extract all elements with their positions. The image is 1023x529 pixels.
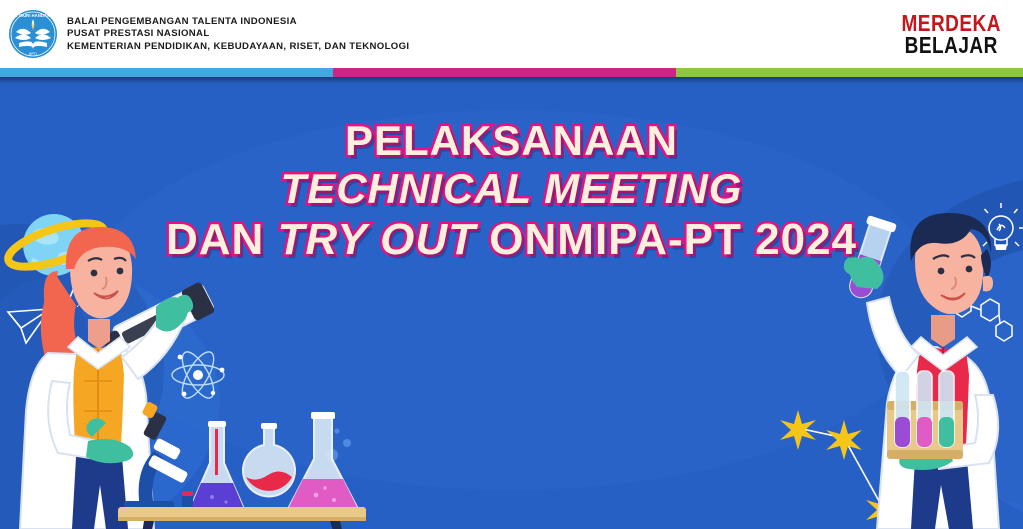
stripe-segment-magenta bbox=[333, 68, 676, 77]
merdeka-belajar-logo: MERDEKA BELAJAR bbox=[901, 14, 1001, 54]
event-banner: x+xy bbox=[0, 0, 1023, 529]
institution-line-2: PUSAT PRESTASI NASIONAL bbox=[67, 28, 409, 41]
institution-line-3: KEMENTERIAN PENDIDIKAN, KEBUDAYAAN, RISE… bbox=[67, 41, 409, 54]
stripe-segment-green bbox=[676, 68, 1023, 77]
lab-bench-with-glassware bbox=[118, 399, 366, 529]
merdeka-label: MERDEKA bbox=[901, 14, 1001, 36]
banner-header: TUT WURI HANDAYANI BPTI BALAI PENGEMBANG… bbox=[0, 0, 1023, 68]
tut-wuri-handayani-logo: TUT WURI HANDAYANI BPTI bbox=[8, 9, 58, 59]
institution-text-block: BALAI PENGEMBANGAN TALENTA INDONESIA PUS… bbox=[67, 15, 409, 54]
flask-red bbox=[243, 423, 295, 497]
institution-brand: TUT WURI HANDAYANI BPTI BALAI PENGEMBANG… bbox=[8, 9, 409, 59]
color-stripe bbox=[0, 68, 1023, 77]
stripe-segment-blue bbox=[0, 68, 333, 77]
institution-line-1: BALAI PENGEMBANGAN TALENTA INDONESIA bbox=[67, 16, 409, 29]
flask-pink bbox=[288, 412, 358, 509]
belajar-label: BELAJAR bbox=[901, 36, 1001, 58]
male-scientist-with-test-tube bbox=[795, 195, 1023, 529]
microscope-icon bbox=[122, 401, 188, 517]
svg-text:TUT WURI HANDAYANI: TUT WURI HANDAYANI bbox=[10, 13, 57, 18]
flask-purple bbox=[182, 421, 244, 509]
stripe-shadow bbox=[0, 77, 1023, 84]
svg-text:BPTI: BPTI bbox=[29, 52, 37, 56]
